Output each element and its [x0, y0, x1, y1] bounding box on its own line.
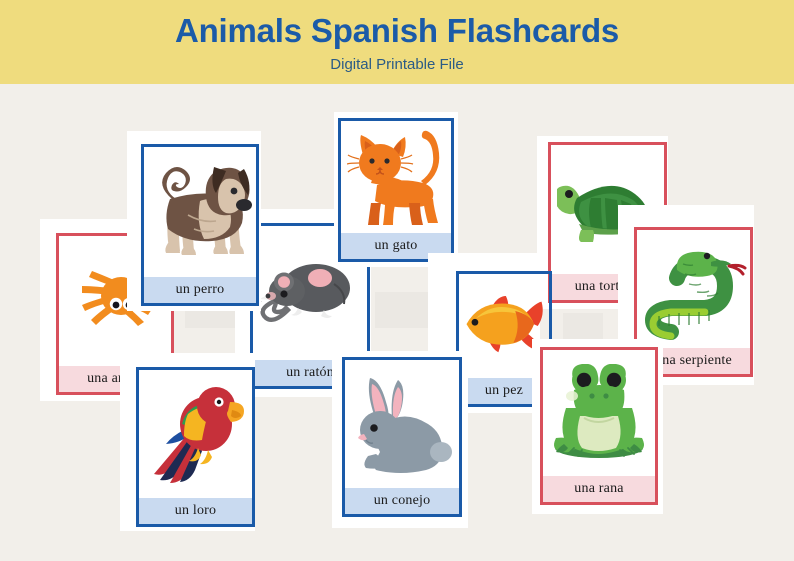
flashcard-frame: un conejo [342, 357, 462, 517]
snake-illustration [637, 230, 750, 348]
cat-illustration [341, 121, 451, 233]
flashcard-parrot[interactable]: un loro [120, 353, 255, 531]
flashcard-frog[interactable]: una rana [532, 339, 663, 514]
flashcard-label: un loro [139, 498, 252, 524]
flashcard-frame: un gato [338, 118, 454, 262]
flashcard-poster: Animals Spanish Flashcards Digital Print… [0, 0, 794, 561]
image-placeholder-3 [563, 313, 603, 339]
poster-header: Animals Spanish Flashcards Digital Print… [0, 0, 794, 84]
page-subtitle: Digital Printable File [330, 57, 463, 72]
rabbit-illustration [345, 360, 459, 488]
frog-illustration [543, 350, 655, 476]
flashcard-label: un conejo [345, 488, 459, 514]
flashcard-frame: un perro [141, 144, 259, 306]
image-placeholder-2 [375, 292, 432, 328]
parrot-illustration [139, 370, 252, 498]
dog-illustration [144, 147, 256, 277]
flashcard-cat[interactable]: un gato [334, 112, 458, 267]
flashcard-label: una rana [543, 476, 655, 502]
flashcard-frame: una rana [540, 347, 658, 505]
flashcard-label: un perro [144, 277, 256, 303]
flashcard-frame: un loro [136, 367, 255, 527]
page-title: Animals Spanish Flashcards [175, 14, 619, 47]
flashcard-rabbit[interactable]: un conejo [332, 351, 468, 528]
flashcard-dog[interactable]: un perro [127, 131, 261, 311]
